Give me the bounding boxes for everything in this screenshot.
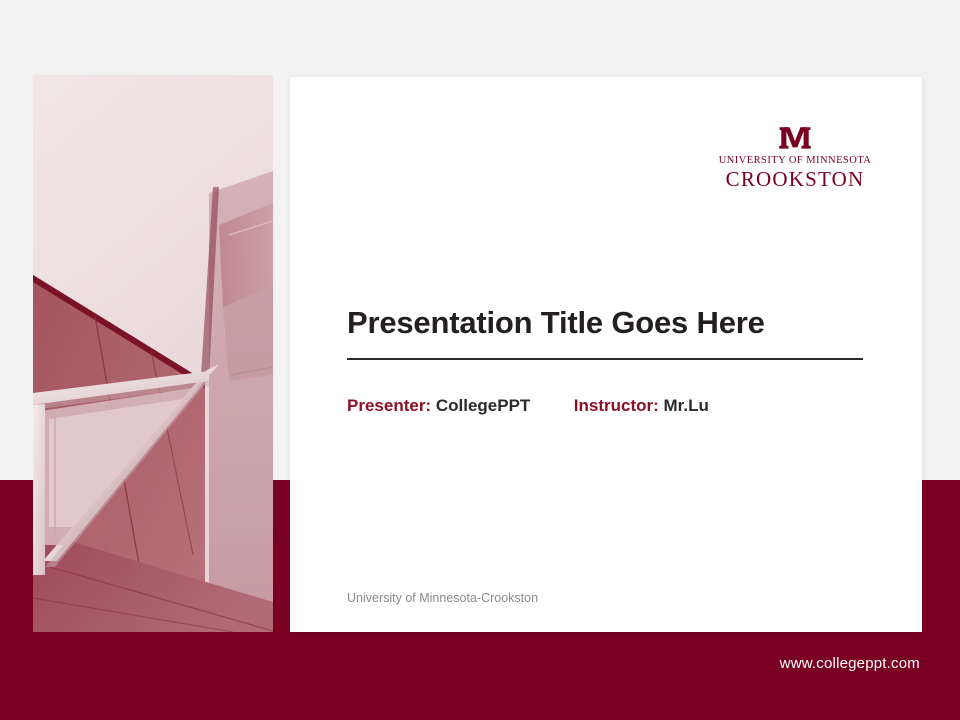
instructor-name: Mr.Lu xyxy=(664,396,709,415)
block-m-icon xyxy=(778,125,812,151)
presenter-name: CollegePPT xyxy=(436,396,530,415)
slide-footer-text: University of Minnesota-Crookston xyxy=(347,591,538,605)
title-divider xyxy=(347,358,863,360)
website-url: www.collegeppt.com xyxy=(780,655,920,672)
logo-university-line: UNIVERSITY OF MINNESOTA xyxy=(700,155,890,167)
slide-canvas: www.collegeppt.com xyxy=(0,0,960,720)
instructor-label: Instructor: xyxy=(574,396,659,415)
logo-campus-line: CROOKSTON xyxy=(700,168,890,191)
presenter-label: Presenter: xyxy=(347,396,431,415)
presentation-title: Presentation Title Goes Here xyxy=(347,305,863,341)
credits-line: Presenter: CollegePPT Instructor: Mr.Lu xyxy=(347,397,709,414)
title-block: Presentation Title Goes Here xyxy=(347,305,863,360)
abstract-architecture-photo xyxy=(33,75,273,632)
slide-card: UNIVERSITY OF MINNESOTA CROOKSTON Presen… xyxy=(290,77,922,632)
university-logo: UNIVERSITY OF MINNESOTA CROOKSTON xyxy=(700,125,890,191)
